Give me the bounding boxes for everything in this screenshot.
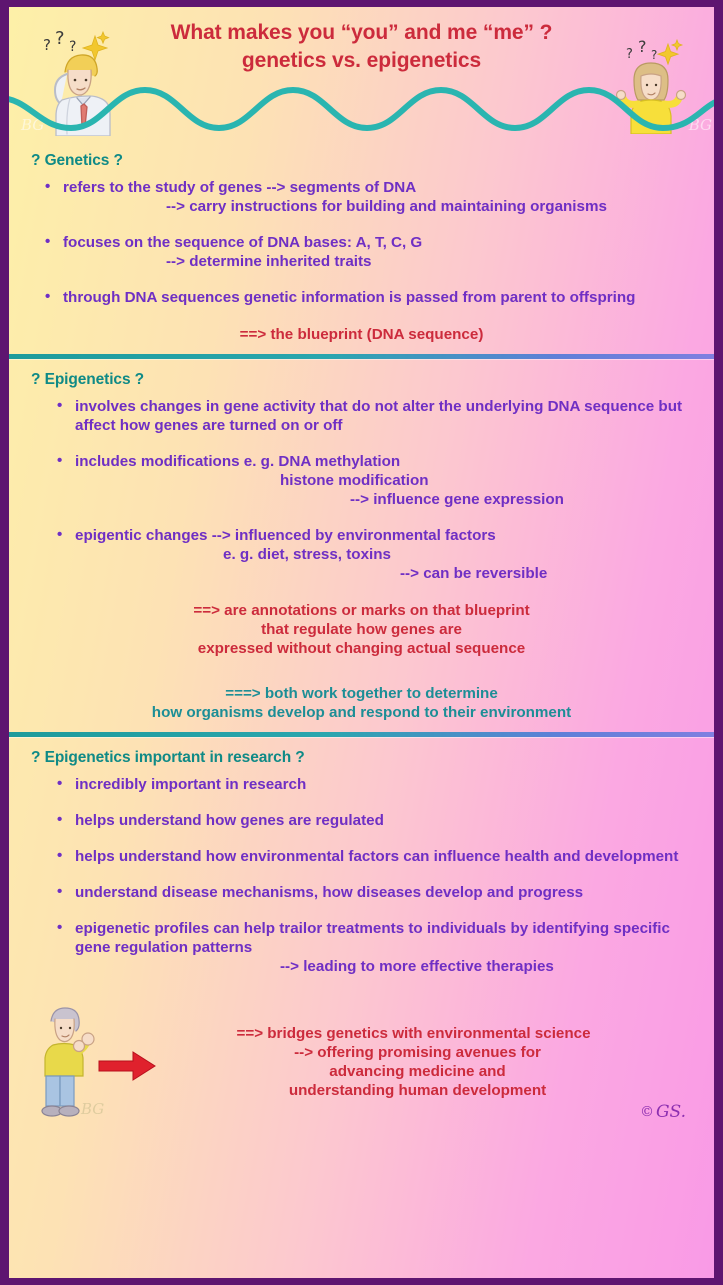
bullet-text: helps understand how genes are regulated (75, 812, 384, 829)
bullet-list-research: incredibly important in research helps u… (23, 775, 700, 993)
conclusion-genetics: ==> the blueprint (DNA sequence) (23, 325, 700, 344)
svg-text:?: ? (69, 39, 76, 55)
list-item: epigenetic profiles can help trailor tre… (23, 919, 700, 976)
conclusion-line: that regulate how genes are (23, 620, 700, 639)
bullet-list-epigenetics: involves changes in gene activity that d… (23, 397, 700, 583)
copyright-signature: ©GS. (640, 1102, 686, 1122)
svg-text:?: ? (55, 28, 65, 49)
svg-text:?: ? (638, 37, 647, 56)
conclusion-line: how organisms develop and respond to the… (23, 703, 700, 722)
list-item: helps understand how environmental facto… (23, 847, 700, 866)
list-item: involves changes in gene activity that d… (23, 397, 700, 435)
copyright-initials: GS. (656, 1102, 686, 1122)
conclusion-line: ===> both work together to determine (23, 684, 700, 703)
conclusion-line: ==> bridges genetics with environmental … (163, 1024, 664, 1043)
list-item: through DNA sequences genetic informatio… (23, 288, 700, 307)
conclusion-epigenetics-red: ==> are annotations or marks on that blu… (23, 601, 700, 658)
footer-illustration: BG (33, 999, 163, 1124)
bullet-list-genetics: refers to the study of genes --> segment… (23, 178, 700, 307)
section-research: ? Epigenetics important in research ? in… (9, 737, 714, 1278)
section-heading-epigenetics: ? Epigenetics ? (31, 371, 700, 389)
poster-header: What makes you “you” and me “me” ? genet… (9, 7, 714, 140)
svg-text:?: ? (43, 36, 51, 54)
bullet-text: understand disease mechanisms, how disea… (75, 884, 583, 901)
bullet-text: epigenetic profiles can help trailor tre… (75, 920, 670, 956)
bullet-text: refers to the study of genes --> segment… (63, 179, 416, 196)
list-item: refers to the study of genes --> segment… (23, 178, 700, 216)
poster-inner: What makes you “you” and me “me” ? genet… (9, 7, 714, 1278)
infographic-poster: What makes you “you” and me “me” ? genet… (0, 0, 723, 1285)
section-epigenetics: ? Epigenetics ? involves changes in gene… (9, 359, 714, 732)
dna-wave-icon (9, 76, 714, 138)
footer-conclusion: BG ==> bridges genetics with environment… (23, 993, 700, 1128)
bullet-subtext: --> leading to more effective therapies (280, 957, 700, 976)
bullet-text: helps understand how environmental facto… (75, 848, 678, 865)
bullet-subtext: histone modification (280, 471, 700, 490)
list-item: includes modifications e. g. DNA methyla… (23, 452, 700, 509)
copyright-symbol: © (640, 1104, 654, 1120)
list-item: helps understand how genes are regulated (23, 811, 700, 830)
section-heading-research: ? Epigenetics important in research ? (31, 749, 700, 767)
title-line-1: What makes you “you” and me “me” ? (171, 21, 553, 44)
footer-conclusion-text: ==> bridges genetics with environmental … (163, 1024, 690, 1100)
svg-text:?: ? (626, 47, 633, 62)
bullet-text: epigentic changes --> influenced by envi… (75, 527, 496, 544)
artist-mark-footer: BG (81, 1100, 104, 1118)
section-genetics: ? Genetics ? refers to the study of gene… (9, 140, 714, 354)
section-heading-genetics: ? Genetics ? (31, 152, 700, 170)
bullet-subtext: e. g. diet, stress, toxins (223, 545, 700, 564)
conclusion-line: ==> are annotations or marks on that blu… (23, 601, 700, 620)
red-right-arrow-icon (99, 1052, 155, 1080)
svg-text:?: ? (651, 48, 657, 62)
bullet-subtext: --> influence gene expression (350, 490, 700, 509)
bullet-text: includes modifications e. g. DNA methyla… (75, 453, 400, 470)
bullet-subtext: --> can be reversible (400, 564, 700, 583)
bullet-text: focuses on the sequence of DNA bases: A,… (63, 234, 422, 251)
conclusion-line: advancing medicine and (163, 1062, 664, 1081)
list-item: focuses on the sequence of DNA bases: A,… (23, 233, 700, 271)
bullet-text: involves changes in gene activity that d… (75, 398, 682, 434)
conclusion-epigenetics-teal: ===> both work together to determine how… (23, 684, 700, 722)
list-item: understand disease mechanisms, how disea… (23, 883, 700, 902)
bullet-subtext: --> carry instructions for building and … (166, 197, 700, 216)
list-item: incredibly important in research (23, 775, 700, 794)
bullet-subtext: --> determine inherited traits (166, 252, 700, 271)
conclusion-line: expressed without changing actual sequen… (23, 639, 700, 658)
conclusion-line: understanding human development (163, 1081, 664, 1100)
bullet-text: through DNA sequences genetic informatio… (63, 289, 635, 306)
conclusion-line: --> offering promising avenues for (163, 1043, 664, 1062)
list-item: epigentic changes --> influenced by envi… (23, 526, 700, 583)
conclusion-line: ==> the blueprint (DNA sequence) (23, 325, 700, 344)
bullet-text: incredibly important in research (75, 776, 306, 793)
